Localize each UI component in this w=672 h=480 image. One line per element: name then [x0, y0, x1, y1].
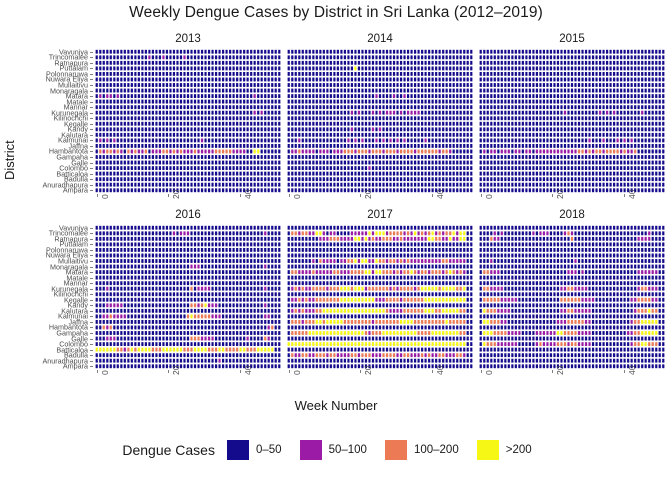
x-tick	[97, 370, 98, 373]
y-tick	[90, 102, 93, 103]
facet-strip-label: 2017	[287, 206, 473, 224]
y-tick	[90, 322, 93, 323]
y-tick-label: Ampara	[63, 187, 88, 194]
x-tick	[289, 370, 290, 373]
legend-label: 100–200	[414, 444, 459, 456]
x-tick	[552, 370, 553, 373]
heatmap-tiles	[287, 49, 473, 193]
y-tick	[90, 124, 93, 125]
x-tick-label: 20	[555, 366, 565, 375]
y-tick	[90, 163, 93, 164]
y-tick	[90, 63, 93, 64]
y-tick	[90, 255, 93, 256]
y-tick	[90, 261, 93, 262]
facet-strip-label: 2015	[479, 30, 665, 48]
x-tick	[624, 370, 625, 373]
heatmap-tiles	[479, 49, 665, 193]
y-tick	[90, 311, 93, 312]
x-tick-label: 0	[292, 370, 302, 375]
y-tick	[90, 129, 93, 130]
y-tick	[90, 233, 93, 234]
legend-key[interactable]: >200	[477, 440, 542, 460]
facet-row: 201602040201702040201802040	[95, 206, 665, 382]
heatmap-tiles	[95, 225, 281, 369]
x-axis-title: Week Number	[0, 398, 672, 413]
heatmap-tiles	[479, 225, 665, 369]
facet-row: 201302040201402040201502040	[95, 30, 665, 206]
y-tick	[90, 327, 93, 328]
page-title: Weekly Dengue Cases by District in Sri L…	[0, 4, 672, 22]
facet-2015: 201502040	[479, 30, 665, 206]
facet-2016: 201602040	[95, 206, 281, 382]
y-tick	[90, 74, 93, 75]
y-tick	[90, 190, 93, 191]
y-tick	[90, 146, 93, 147]
facet-strip-label: 2013	[95, 30, 281, 48]
heatmap-panel	[479, 225, 665, 369]
y-tick	[90, 350, 93, 351]
x-tick	[481, 370, 482, 373]
y-tick	[90, 239, 93, 240]
y-tick	[90, 96, 93, 97]
y-tick	[90, 85, 93, 86]
y-tick	[90, 107, 93, 108]
x-tick-label: 0	[100, 194, 110, 199]
x-axis: 02040	[95, 194, 281, 206]
y-tick	[90, 344, 93, 345]
facet-strip-label: 2018	[479, 206, 665, 224]
facet-strip-label: 2014	[287, 30, 473, 48]
x-tick	[481, 194, 482, 197]
x-tick-label: 40	[627, 190, 637, 199]
x-tick-label: 0	[292, 194, 302, 199]
x-tick-label: 20	[363, 366, 373, 375]
x-axis: 02040	[287, 370, 473, 382]
y-tick	[90, 179, 93, 180]
x-tick-label: 40	[435, 366, 445, 375]
x-tick	[97, 194, 98, 197]
y-tick	[90, 289, 93, 290]
facet-grid: 2013020402014020402015020402016020402017…	[95, 30, 665, 382]
y-tick	[90, 361, 93, 362]
heatmap-tiles	[287, 225, 473, 369]
legend-key[interactable]: 50–100	[300, 440, 377, 460]
x-tick	[432, 370, 433, 373]
x-tick-label: 0	[484, 194, 494, 199]
y-tick	[90, 244, 93, 245]
facet-2013: 201302040	[95, 30, 281, 206]
x-tick-label: 0	[100, 370, 110, 375]
y-tick	[90, 135, 93, 136]
facet-2017: 201702040	[287, 206, 473, 382]
x-axis: 02040	[479, 194, 665, 206]
y-tick	[90, 57, 93, 58]
x-tick	[360, 194, 361, 197]
heatmap-tiles	[95, 49, 281, 193]
y-tick	[90, 366, 93, 367]
x-tick-label: 40	[243, 366, 253, 375]
x-tick	[624, 194, 625, 197]
x-tick-label: 20	[555, 190, 565, 199]
y-tick	[90, 267, 93, 268]
y-tick	[90, 333, 93, 334]
y-tick-label: Ampara	[63, 363, 88, 370]
facet-strip-label: 2016	[95, 206, 281, 224]
heatmap-panel	[287, 49, 473, 193]
legend-key[interactable]: 0–50	[227, 440, 292, 460]
legend-swatch	[300, 440, 322, 460]
legend-swatch	[227, 440, 249, 460]
legend-label: >200	[506, 444, 532, 456]
x-tick	[289, 194, 290, 197]
y-tick	[90, 52, 93, 53]
y-tick	[90, 294, 93, 295]
x-tick-label: 40	[243, 190, 253, 199]
y-tick	[90, 300, 93, 301]
y-tick	[90, 168, 93, 169]
heatmap-panel	[95, 225, 281, 369]
legend-keys: 0–5050–100100–200>200	[227, 440, 550, 460]
y-tick	[90, 91, 93, 92]
y-tick	[90, 339, 93, 340]
x-tick	[168, 370, 169, 373]
y-tick	[90, 283, 93, 284]
x-axis: 02040	[479, 370, 665, 382]
legend-label: 50–100	[329, 444, 367, 456]
x-tick-label: 40	[435, 190, 445, 199]
y-tick	[90, 118, 93, 119]
heatmap-panel	[287, 225, 473, 369]
legend-title: Dengue Cases	[122, 442, 215, 458]
legend-key[interactable]: 100–200	[385, 440, 469, 460]
x-tick-label: 0	[484, 370, 494, 375]
legend-label: 0–50	[256, 444, 282, 456]
x-tick	[432, 194, 433, 197]
x-tick-label: 20	[363, 190, 373, 199]
y-axis: VavuniyaTrincomaleeRatnapuraPuttalamPolo…	[0, 0, 95, 400]
x-tick	[552, 194, 553, 197]
legend: Dengue Cases 0–5050–100100–200>200	[0, 440, 672, 460]
x-tick	[240, 370, 241, 373]
legend-swatch	[477, 440, 499, 460]
y-tick	[90, 355, 93, 356]
x-tick	[360, 370, 361, 373]
x-axis: 02040	[95, 370, 281, 382]
x-tick-label: 20	[171, 366, 181, 375]
y-tick	[90, 157, 93, 158]
y-tick	[90, 228, 93, 229]
y-tick	[90, 79, 93, 80]
dengue-heatmap-figure: Weekly Dengue Cases by District in Sri L…	[0, 0, 672, 480]
y-tick	[90, 305, 93, 306]
y-tick	[90, 316, 93, 317]
y-tick	[90, 185, 93, 186]
y-tick	[90, 68, 93, 69]
x-axis: 02040	[287, 194, 473, 206]
y-tick	[90, 278, 93, 279]
facet-2018: 201802040	[479, 206, 665, 382]
y-tick	[90, 140, 93, 141]
heatmap-panel	[479, 49, 665, 193]
facet-2014: 201402040	[287, 30, 473, 206]
y-tick	[90, 151, 93, 152]
y-tick	[90, 113, 93, 114]
x-tick	[240, 194, 241, 197]
heatmap-panel	[95, 49, 281, 193]
y-tick	[90, 250, 93, 251]
legend-swatch	[385, 440, 407, 460]
x-tick-label: 20	[171, 190, 181, 199]
x-tick-label: 40	[627, 366, 637, 375]
y-tick	[90, 272, 93, 273]
x-tick	[168, 194, 169, 197]
y-tick	[90, 174, 93, 175]
